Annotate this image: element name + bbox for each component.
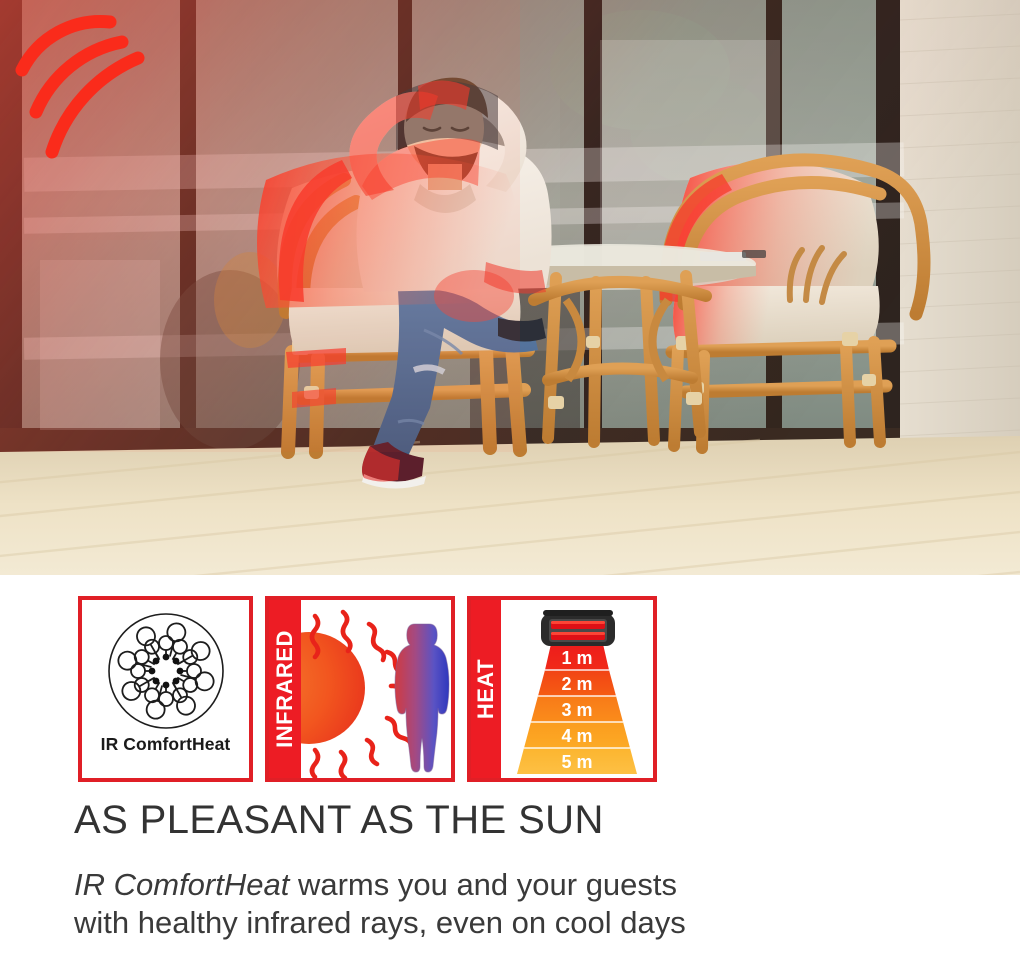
page-subcopy: IR ComfortHeat warms you and your guests… (74, 866, 686, 943)
subcopy-line1-rest: warms you and your guests (289, 867, 677, 902)
infrared-band-label: INFRARED (272, 630, 298, 748)
hero-photo (0, 0, 1020, 575)
heater-cone-illustration: 1 m 2 m 3 m 4 m 5 m (501, 600, 653, 778)
feature-badge-row: IR ComfortHeat INFRARED (78, 596, 657, 782)
badge-infrared: INFRARED (265, 596, 455, 782)
badge-ir-comfortheat: IR ComfortHeat (78, 596, 253, 782)
heater-distance-cone-icon: 1 m 2 m 3 m 4 m 5 m (501, 600, 653, 778)
badge-heat: HEAT (467, 596, 657, 782)
subcopy-brand-name: IR ComfortHeat (74, 867, 289, 902)
distance-label-1: 1 m (561, 648, 592, 668)
hero-photo-illustration (0, 0, 1020, 575)
sun-human-illustration (301, 600, 451, 778)
infrared-side-band: INFRARED (269, 600, 301, 778)
heat-band-label: HEAT (473, 659, 499, 719)
heat-side-band: HEAT (471, 600, 501, 778)
distance-label-4: 4 m (561, 726, 592, 746)
subcopy-line2: with healthy infrared rays, even on cool… (74, 905, 686, 940)
sun-rays-human-icon (301, 600, 451, 778)
human-silhouette (395, 624, 449, 772)
badge-brand-label: IR ComfortHeat (101, 734, 231, 755)
page-headline: AS PLEASANT AS THE SUN (74, 800, 604, 840)
distance-label-2: 2 m (561, 674, 592, 694)
distance-label-5: 5 m (561, 752, 592, 772)
ir-comfortheat-burst-icon (102, 609, 230, 737)
distance-label-3: 3 m (561, 700, 592, 720)
product-feature-page: IR ComfortHeat INFRARED (0, 0, 1020, 969)
